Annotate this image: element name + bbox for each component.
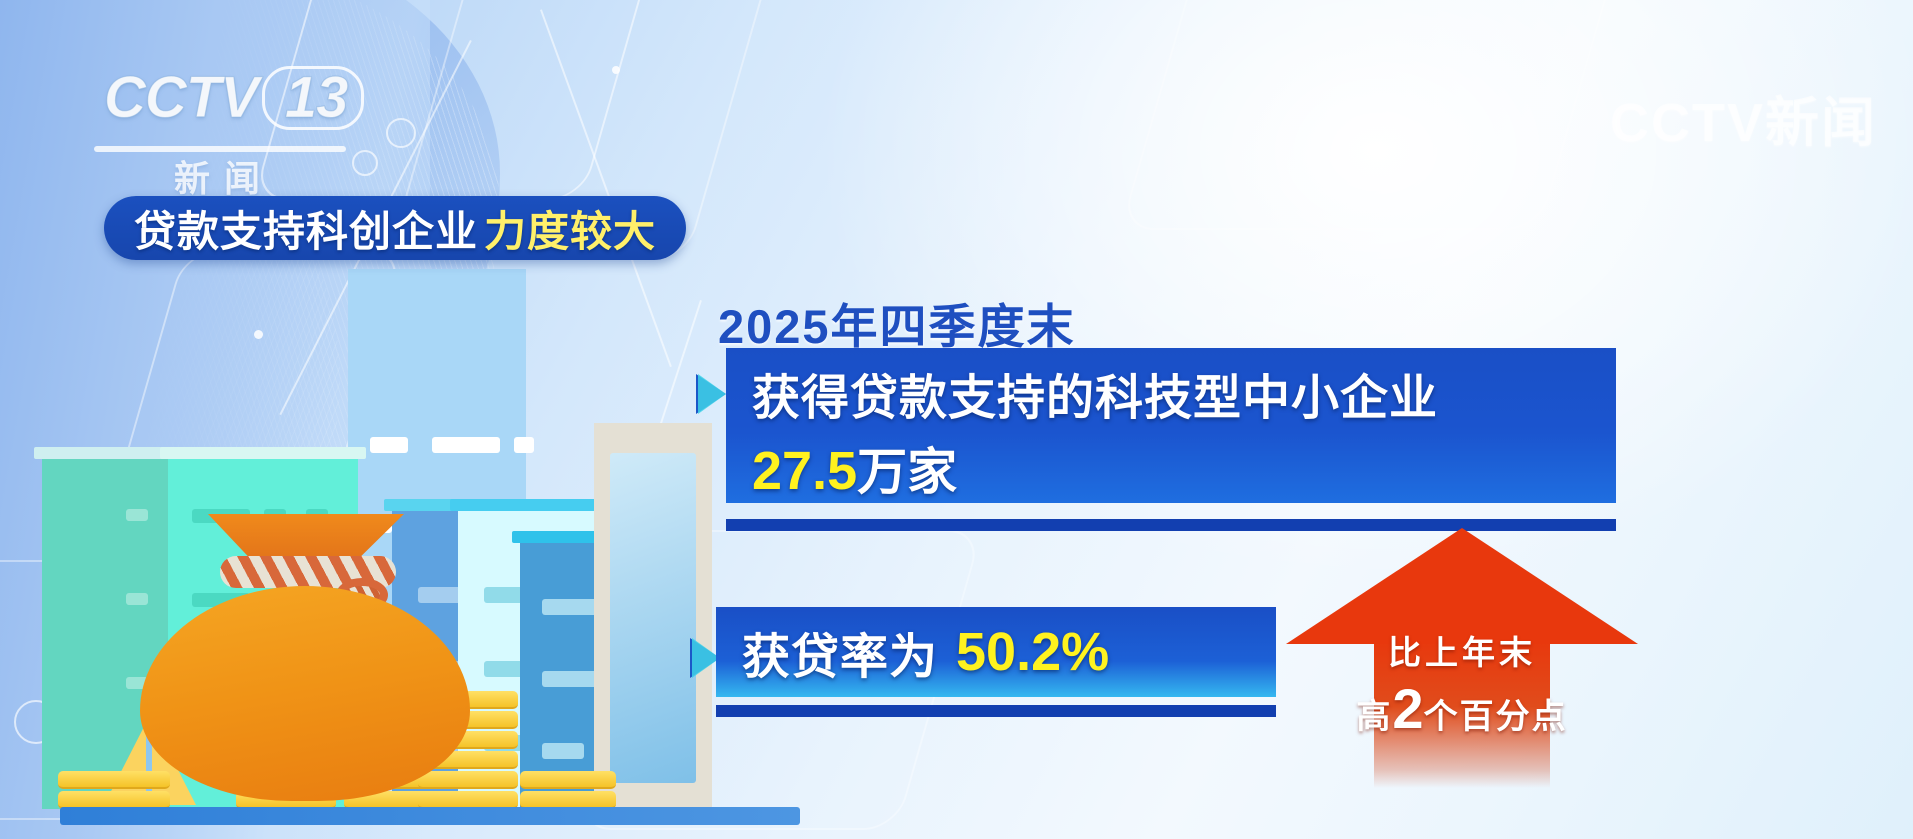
headline-accent-text: 力度较大 bbox=[484, 198, 656, 259]
comparison-number: 2 bbox=[1392, 677, 1423, 740]
broadcast-graphic-stage: CCTV新闻 bbox=[0, 0, 1913, 839]
stat-primary-unit: 万家 bbox=[857, 444, 957, 500]
date-label: 2025年四季度末 bbox=[718, 288, 1076, 357]
stat-primary-description: 获得贷款支持的科技型中小企业 bbox=[752, 358, 1596, 428]
comparison-value-row: 高2个百分点 bbox=[1286, 676, 1638, 741]
cctv-logo: CCTV13 新闻 bbox=[104, 66, 404, 176]
up-arrow-icon: 比上年末 高2个百分点 bbox=[1286, 528, 1638, 788]
cctv-logo-subtitle: 新闻 bbox=[174, 150, 274, 202]
decorative-dot bbox=[612, 66, 620, 74]
comparison-prefix: 高 bbox=[1356, 698, 1392, 736]
cctv-logo-channel-number: 13 bbox=[262, 66, 365, 130]
stat-secondary-value: 50.2% bbox=[956, 621, 1109, 683]
stat-secondary-underline bbox=[716, 705, 1276, 717]
comparison-period-label: 比上年末 bbox=[1286, 626, 1638, 674]
money-bag-body bbox=[140, 586, 470, 801]
stat-primary-value: 27.5 bbox=[752, 441, 857, 501]
stat-primary-box: 获得贷款支持的科技型中小企业 27.5万家 bbox=[726, 348, 1616, 503]
cctv-logo-text: CCTV13 bbox=[104, 66, 404, 130]
money-bag-icon bbox=[140, 586, 470, 801]
stat-secondary-label: 获贷率为 bbox=[742, 617, 938, 687]
coin-stack-icon bbox=[520, 767, 616, 809]
channel-watermark: CCTV新闻 bbox=[1610, 78, 1877, 157]
ground-bar bbox=[60, 807, 800, 825]
headline-banner: 贷款支持科创企业 力度较大 bbox=[104, 196, 686, 260]
building-tower bbox=[594, 423, 712, 809]
city-skyline-illustration bbox=[0, 219, 820, 839]
triangle-right-icon bbox=[696, 374, 726, 414]
headline-main-text: 贷款支持科创企业 bbox=[134, 198, 478, 259]
stat-primary-value-row: 27.5万家 bbox=[752, 432, 1596, 504]
comparison-suffix: 个百分点 bbox=[1424, 698, 1568, 736]
cctv-logo-letters: CCTV bbox=[104, 65, 258, 130]
stat-secondary-box: 获贷率为 50.2% bbox=[716, 607, 1276, 697]
